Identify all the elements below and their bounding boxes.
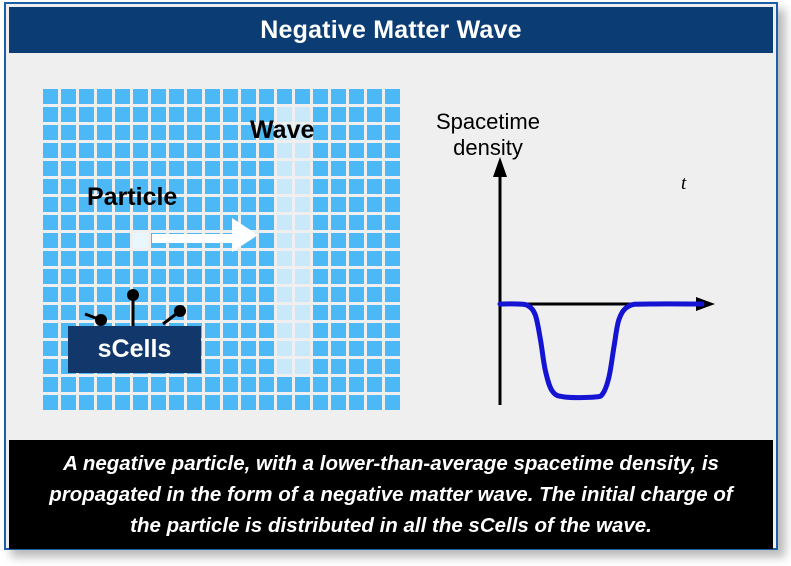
grid-cell [97,395,112,410]
grid-cell [277,305,292,320]
grid-cell [259,89,274,104]
grid-cell [133,107,148,122]
grid-cell [61,107,76,122]
grid-cell [259,269,274,284]
grid-cell [295,233,310,248]
grid-cell [295,305,310,320]
grid-cell [241,287,256,302]
grid-cell [277,395,292,410]
grid-cell [79,89,94,104]
spacetime-density-chart: Spacetime density t [419,95,729,405]
grid-cell [61,215,76,230]
grid-cell [385,377,400,392]
grid-cell [385,341,400,356]
grid-cell [241,179,256,194]
grid-cell [79,287,94,302]
grid-cell [331,215,346,230]
grid-cell [295,377,310,392]
grid-cell [61,233,76,248]
grid-cell [313,341,328,356]
grid-cell [115,161,130,176]
grid-cell [313,251,328,266]
grid-cell [367,143,382,158]
grid-cell [367,323,382,338]
grid-cell [349,161,364,176]
grid-cell [151,161,166,176]
grid-cell [385,287,400,302]
grid-cell [349,215,364,230]
grid-cell [79,305,94,320]
grid-cell [43,251,58,266]
grid-cell [295,251,310,266]
grid-cell [169,287,184,302]
grid-cell [331,161,346,176]
grid-cell [43,89,58,104]
grid-cell [313,143,328,158]
grid-cell [259,143,274,158]
grid-cell [133,377,148,392]
grid-cell [223,359,238,374]
grid-cell [43,215,58,230]
grid-cell [97,143,112,158]
grid-cell [223,395,238,410]
grid-cell [151,395,166,410]
grid-cell [385,197,400,212]
grid-cell [205,287,220,302]
grid-cell [151,305,166,320]
grid-cell [133,287,148,302]
grid-cell [43,143,58,158]
grid-cell [259,233,274,248]
grid-cell [385,323,400,338]
grid-cell [367,305,382,320]
grid-cell [277,161,292,176]
grid-cell [43,323,58,338]
particle-label: Particle [87,183,177,212]
grid-cell [367,359,382,374]
grid-cell [169,215,184,230]
grid-cell [61,179,76,194]
grid-cell [205,125,220,140]
grid-cell [169,251,184,266]
grid-cell [61,161,76,176]
grid-cell [313,215,328,230]
grid-cell [61,125,76,140]
grid-cell [295,161,310,176]
figure-card: Negative Matter Wave Particle Wave [4,2,778,550]
grid-cell [187,161,202,176]
figure-root: Negative Matter Wave Particle Wave [0,0,791,566]
grid-cell [79,107,94,122]
grid-cell [205,359,220,374]
grid-cell [295,197,310,212]
scells-label: sCells [98,335,172,364]
grid-cell [367,197,382,212]
grid-cell [367,179,382,194]
grid-cell [169,395,184,410]
grid-cell [133,395,148,410]
grid-cell [349,179,364,194]
grid-cell [295,287,310,302]
grid-cell [277,269,292,284]
grid-cell [349,359,364,374]
grid-cell [187,179,202,194]
page-title: Negative Matter Wave [260,16,522,45]
wave-label: Wave [250,116,314,145]
grid-cell [115,269,130,284]
grid-cell [331,377,346,392]
grid-cell [79,251,94,266]
grid-cell [61,143,76,158]
grid-cell [97,269,112,284]
grid-cell [43,359,58,374]
grid-cell [331,233,346,248]
grid-cell [133,143,148,158]
grid-cell [241,89,256,104]
grid-cell [79,233,94,248]
grid-cell [205,395,220,410]
grid-cell [223,269,238,284]
grid-cell [61,269,76,284]
grid-cell [367,215,382,230]
grid-cell [169,305,184,320]
grid-cell [187,143,202,158]
title-bar: Negative Matter Wave [9,7,773,53]
grid-cell [97,107,112,122]
grid-cell [43,197,58,212]
grid-cell [349,251,364,266]
grid-cell [349,125,364,140]
grid-cell [385,143,400,158]
grid-cell [385,269,400,284]
grid-cell [241,161,256,176]
grid-cell [205,377,220,392]
grid-cell [349,341,364,356]
grid-cell [331,179,346,194]
grid-cell [205,179,220,194]
grid-cell [259,395,274,410]
grid-cell [295,215,310,230]
grid-cell [349,377,364,392]
grid-cell [241,341,256,356]
grid-cell [205,89,220,104]
grid-cell [61,197,76,212]
grid-cell [223,287,238,302]
grid-cell [133,251,148,266]
grid-cell [331,305,346,320]
grid-cell [133,89,148,104]
grid-cell [331,359,346,374]
grid-cell [385,215,400,230]
grid-cell [367,107,382,122]
grid-cell [259,197,274,212]
grid-cell [43,341,58,356]
grid-cell [331,287,346,302]
grid-cell [43,395,58,410]
grid-cell [277,143,292,158]
grid-cell [223,179,238,194]
grid-cell [331,197,346,212]
grid-cell [115,125,130,140]
grid-cell [115,233,130,248]
grid-cell [313,377,328,392]
grid-cell [241,395,256,410]
grid-cell [97,251,112,266]
grid-cell [97,287,112,302]
grid-cell [79,395,94,410]
grid-cell [43,287,58,302]
grid-cell [223,197,238,212]
grid-cell [259,341,274,356]
grid-cell [367,287,382,302]
grid-cell [169,89,184,104]
grid-cell [313,287,328,302]
grid-cell [259,377,274,392]
grid-cell [151,251,166,266]
grid-cell [331,341,346,356]
grid-cell [367,161,382,176]
grid-cell [205,197,220,212]
grid-cell [367,233,382,248]
grid-cell [259,359,274,374]
grid-cell [187,89,202,104]
grid-cell [313,125,328,140]
grid-cell [205,305,220,320]
grid-cell [277,359,292,374]
grid-cell [367,377,382,392]
grid-cell [61,377,76,392]
grid-cell [259,305,274,320]
grid-cell [331,395,346,410]
grid-cell [115,305,130,320]
grid-cell [151,215,166,230]
grid-cell [385,359,400,374]
grid-cell [295,359,310,374]
grid-cell [313,107,328,122]
grid-cell [259,215,274,230]
grid-cell [187,215,202,230]
grid-cell [133,233,148,248]
grid-cell [169,125,184,140]
grid-cell [187,377,202,392]
grid-cell [205,251,220,266]
grid-cell [187,305,202,320]
grid-cell [313,197,328,212]
grid-cell [115,107,130,122]
grid-cell [223,107,238,122]
grid-cell [43,125,58,140]
grid-cell [241,251,256,266]
grid-cell [61,305,76,320]
grid-cell [295,341,310,356]
grid-cell [169,269,184,284]
grid-cell [313,233,328,248]
grid-cell [385,107,400,122]
grid-cell [259,287,274,302]
grid-cell [367,269,382,284]
grid-cell [277,287,292,302]
grid-cell [151,107,166,122]
grid-cell [205,215,220,230]
grid-cell [385,161,400,176]
grid-cell [331,125,346,140]
grid-cell [133,161,148,176]
grid-cell [187,287,202,302]
body-panel: Particle Wave sCells [9,55,773,438]
scells-callout-box: sCells [68,326,201,373]
grid-cell [187,125,202,140]
grid-cell [295,143,310,158]
grid-cell [223,305,238,320]
grid-cell [133,125,148,140]
grid-cell [79,161,94,176]
grid-cell [295,269,310,284]
grid-cell [43,233,58,248]
grid-cell [79,125,94,140]
grid-cell [205,341,220,356]
grid-cell [313,395,328,410]
grid-cell [367,341,382,356]
grid-cell [241,143,256,158]
grid-cell [295,89,310,104]
grid-cell [385,179,400,194]
grid-cell [385,395,400,410]
grid-cell [313,323,328,338]
grid-cell [97,215,112,230]
grid-cell [61,89,76,104]
grid-cell [61,287,76,302]
grid-cell [331,107,346,122]
grid-cell [97,89,112,104]
grid-cell [223,323,238,338]
grid-cell [205,143,220,158]
grid-cell [79,377,94,392]
grid-cell [115,377,130,392]
grid-cell [97,161,112,176]
grid-cell [79,269,94,284]
grid-cell [187,107,202,122]
grid-cell [223,143,238,158]
grid-cell [259,323,274,338]
grid-cell [43,269,58,284]
x-axis-label: t [681,173,686,195]
grid-cell [223,377,238,392]
grid-cell [313,359,328,374]
grid-cell [223,161,238,176]
grid-cell [313,89,328,104]
grid-cell [295,179,310,194]
grid-cell [349,143,364,158]
grid-cell [241,305,256,320]
grid-cell [241,323,256,338]
grid-cell [115,143,130,158]
grid-cell [277,251,292,266]
grid-cell [349,269,364,284]
arrow-head [232,218,258,252]
grid-cell [223,341,238,356]
caption-text: A negative particle, with a lower-than-a… [32,448,750,541]
grid-cell [313,305,328,320]
grid-cell [223,125,238,140]
grid-cell [169,143,184,158]
grid-cell [241,197,256,212]
grid-cell [187,395,202,410]
grid-cell [277,341,292,356]
grid-cell [205,269,220,284]
grid-cell [385,251,400,266]
grid-cell [79,215,94,230]
grid-cell [349,89,364,104]
grid-cell [151,269,166,284]
grid-cell [349,323,364,338]
grid-cell [151,287,166,302]
grid-cell [367,251,382,266]
grid-cell [331,89,346,104]
grid-cell [349,233,364,248]
density-curve [500,304,702,398]
grid-cell [277,179,292,194]
grid-cell [187,251,202,266]
grid-cell [115,287,130,302]
grid-cell [169,107,184,122]
grid-cell [313,269,328,284]
grid-cell [43,161,58,176]
grid-cell [241,377,256,392]
grid-cell [385,89,400,104]
grid-cell [277,215,292,230]
grid-cell [187,197,202,212]
grid-cell [331,143,346,158]
grid-cell [151,125,166,140]
grid-cell [43,305,58,320]
grid-cell [133,215,148,230]
grid-cell [151,377,166,392]
grid-cell [277,323,292,338]
grid-cell [367,395,382,410]
grid-cell [43,179,58,194]
grid-cell [43,107,58,122]
grid-cell [115,89,130,104]
grid-cell [349,197,364,212]
grid-cell [115,215,130,230]
grid-cell [277,233,292,248]
grid-cell [277,197,292,212]
grid-cell [331,323,346,338]
grid-cell [169,377,184,392]
grid-cell [133,305,148,320]
y-axis-label: Spacetime density [436,109,540,161]
grid-cell [331,251,346,266]
arrow-shaft [152,234,236,243]
grid-cell [277,377,292,392]
grid-cell [385,305,400,320]
grid-diagram: Particle Wave sCells [43,89,387,401]
grid-cell [61,395,76,410]
grid-cell [349,287,364,302]
grid-cell [205,107,220,122]
grid-cell [331,269,346,284]
grid-cell [43,377,58,392]
grid-cell [367,89,382,104]
grid-cell [295,395,310,410]
grid-cell [277,89,292,104]
grid-cell [187,269,202,284]
grid-cell [97,305,112,320]
grid-cell [241,359,256,374]
grid-cell [349,395,364,410]
grid-cell [151,143,166,158]
grid-cell [223,89,238,104]
